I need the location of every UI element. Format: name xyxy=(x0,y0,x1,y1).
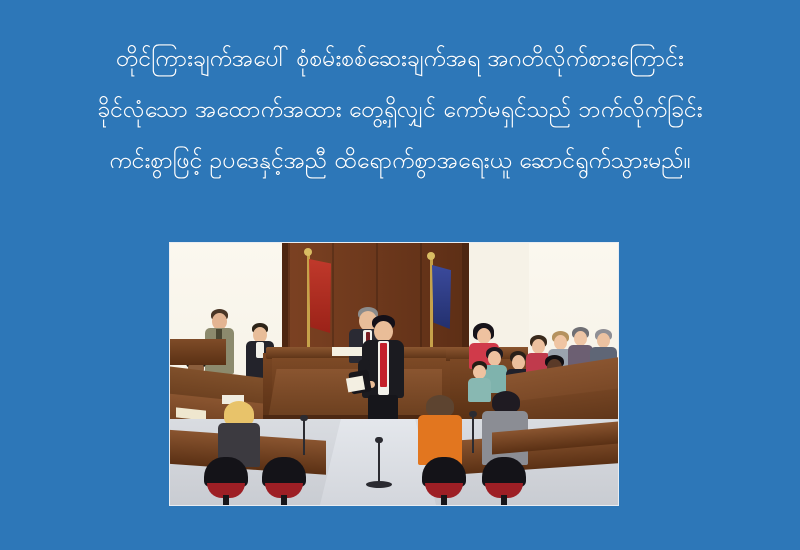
gp5-head xyxy=(574,331,587,346)
mic-head-right xyxy=(469,411,477,417)
gp4-head xyxy=(554,335,567,350)
red-flag xyxy=(309,259,331,333)
mic-pole-center xyxy=(378,441,380,485)
mic-base-center xyxy=(366,481,392,488)
gp8-head xyxy=(473,365,486,379)
witness-head xyxy=(477,328,491,344)
red-flag-finial xyxy=(304,248,312,256)
headline-line-1: တိုင်ကြားချက်အပေါ် စုံစမ်းစစ်ဆေးချက်အရ အ… xyxy=(0,34,800,85)
gp3-head xyxy=(532,339,545,354)
gallery-chair-4 xyxy=(482,457,526,501)
gp2-head xyxy=(512,355,525,370)
lawyer-tie xyxy=(380,343,387,387)
mic-head-left xyxy=(300,415,308,421)
chair3-post xyxy=(441,495,447,505)
blue-flag-finial xyxy=(427,252,435,260)
gallery-chair-3 xyxy=(422,457,466,501)
chair4-post xyxy=(501,495,507,505)
mic-head-center xyxy=(375,437,383,443)
lawyer-document xyxy=(346,376,365,393)
lawyer-head xyxy=(374,321,393,342)
left-bench-top xyxy=(170,339,226,365)
headline-text-block: တိုင်ကြားချက်အပေါ် စုံစမ်းစစ်ဆေးချက်အရ အ… xyxy=(0,34,800,187)
headline-line-3: ကင်းစွာဖြင့် ဥပဒေနှင့်အညီ ထိရောက်စွာအရေး… xyxy=(0,136,800,187)
courtroom-photo-frame xyxy=(169,242,619,506)
poster-root: တိုင်ကြားချက်အပေါ် စုံစမ်းစစ်ဆေးချက်အရ အ… xyxy=(0,0,800,550)
courtroom-illustration xyxy=(170,243,618,505)
fg-attorney-hair xyxy=(492,391,520,413)
gallery-chair-2 xyxy=(262,457,306,501)
chair1-post xyxy=(223,495,229,505)
headline-line-2: ခိုင်လုံသော အထောက်အထား တွေ့ရှိလျှင် ကော်… xyxy=(0,85,800,136)
chair2-post xyxy=(281,495,287,505)
mic-pole-right xyxy=(472,415,474,453)
gallery-chair-1 xyxy=(204,457,248,501)
fg-defendant-hair xyxy=(426,395,454,417)
blue-flag xyxy=(432,265,451,329)
mic-pole-left xyxy=(303,419,305,455)
gp6-head xyxy=(597,333,610,348)
